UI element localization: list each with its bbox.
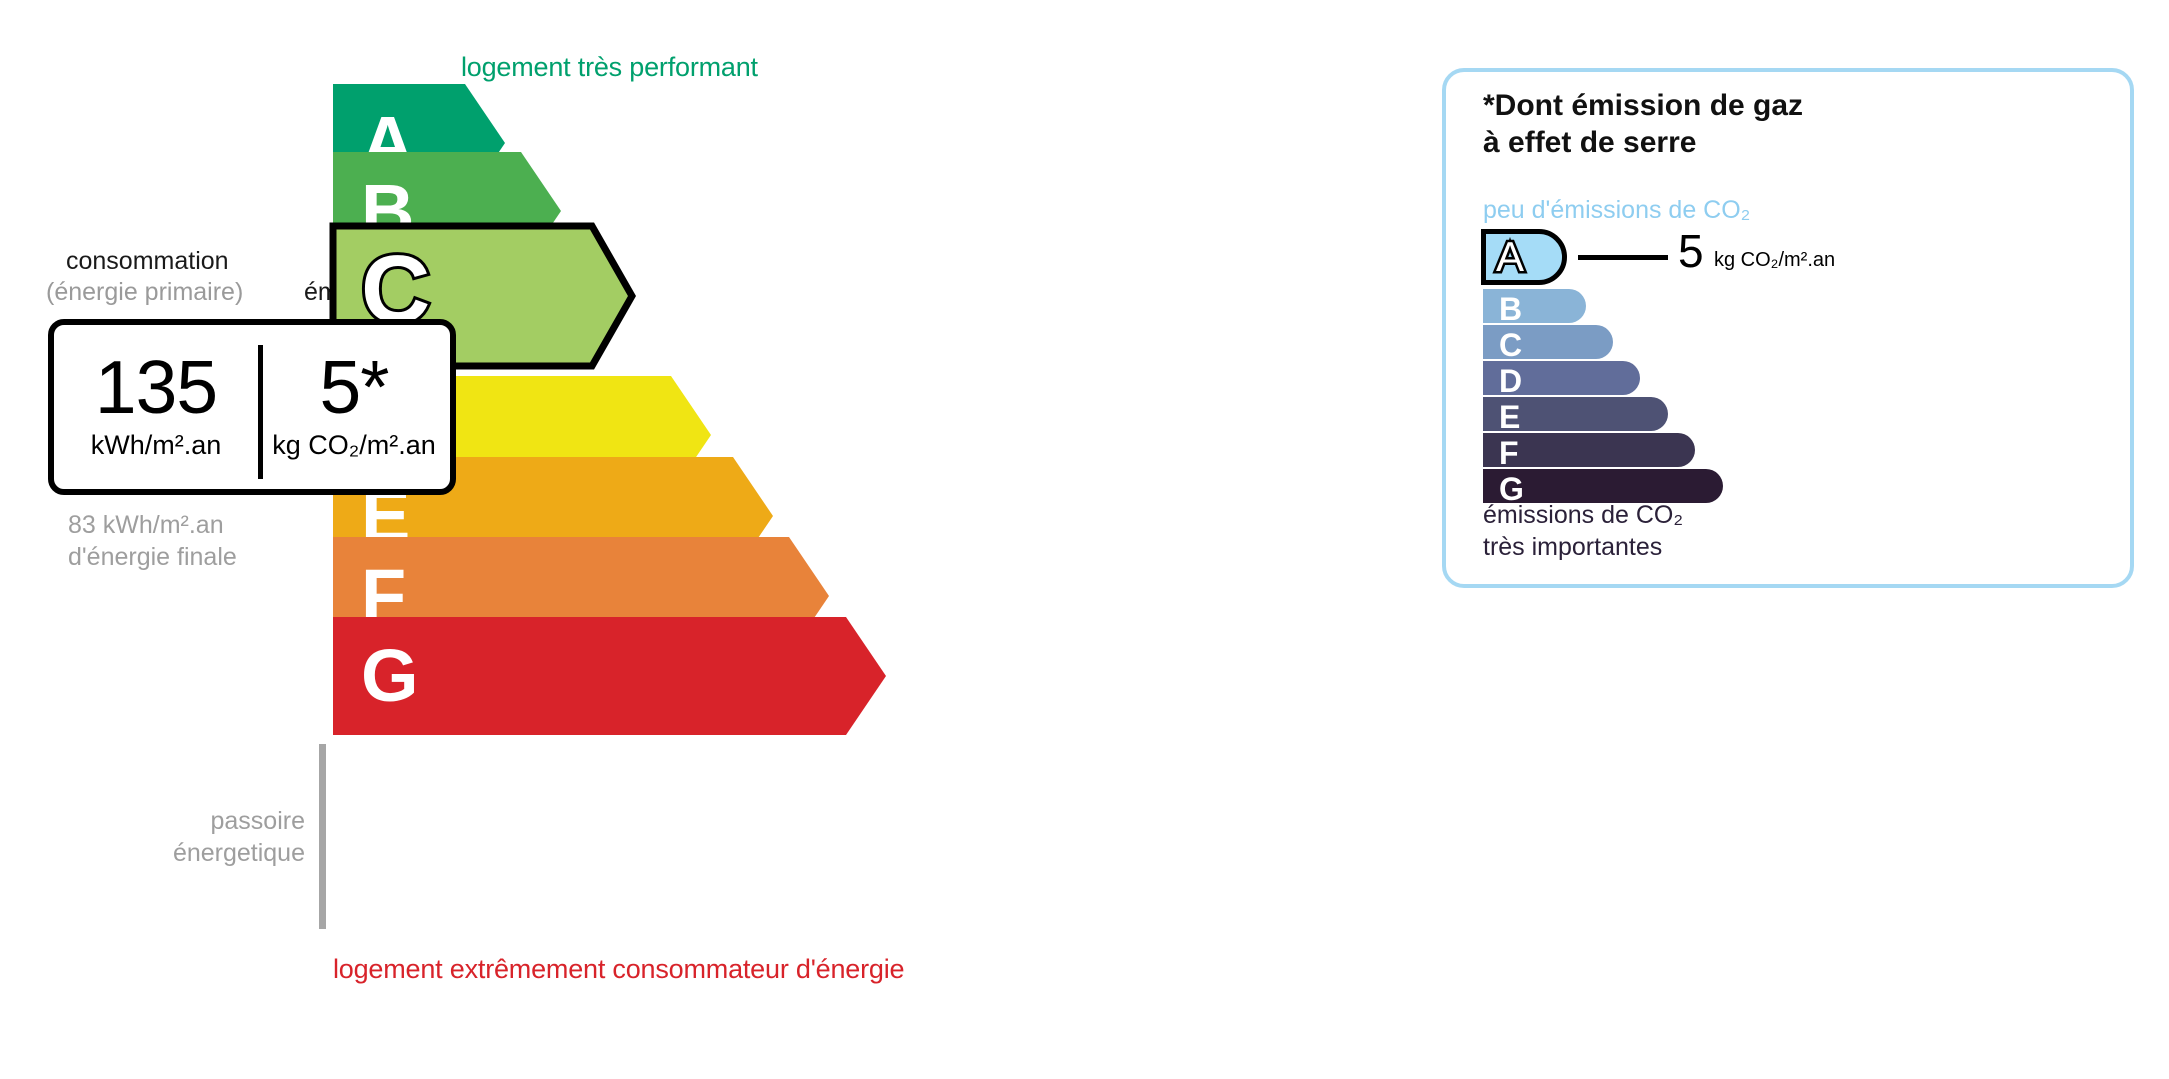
co2-bottom-line-1: émissions de CO₂ [1483,500,1683,532]
value-divider [258,345,263,479]
co2-value: 5 [1678,228,1704,274]
co2-bottom-caption: émissions de CO₂ très importantes [1483,500,1683,563]
co2-value-unit: kg CO₂/m².an [1714,249,1835,272]
co2-grade-letter-e: E [1499,401,1520,433]
co2-grade-scale: BCDEFG [0,0,2169,1079]
consumption-reading: 135 kWh/m².an [54,325,258,489]
co2-selected-grade-letter: A [1496,236,1524,278]
co2-grade-letter-d: D [1499,365,1522,397]
co2-grade-letter-f: F [1499,437,1519,469]
energy-reading-box: 135 kWh/m².an 5* kg CO₂/m².an [48,319,456,495]
co2-connector-line [1578,255,1668,260]
co2-grade-letter-b: B [1499,293,1522,325]
emissions-value: 5* [320,353,389,422]
co2-bottom-line-2: très importantes [1483,532,1683,564]
dpe-label: logement très performant consommation (é… [0,0,2169,1079]
emissions-reading: 5* kg CO₂/m².an [258,325,450,489]
consumption-value: 135 [95,353,217,422]
consumption-unit: kWh/m².an [91,430,222,461]
co2-grade-letter-c: C [1499,329,1522,361]
emissions-unit: kg CO₂/m².an [272,430,436,461]
